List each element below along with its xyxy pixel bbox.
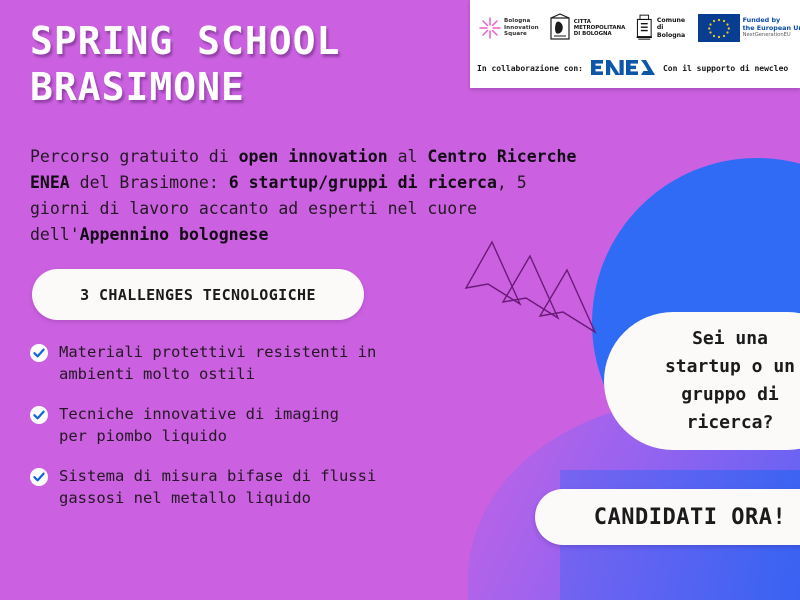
- list-item: Tecniche innovative di imaging per piomb…: [30, 403, 460, 447]
- logo-european-union: Funded by the European Union NextGenerat…: [698, 14, 800, 42]
- callout-line-2: startup o un: [640, 353, 800, 381]
- list-item-line-1: Sistema di misura bifase di flussi: [59, 465, 376, 487]
- lede-seg-1: Percorso gratuito di: [30, 147, 239, 166]
- collaboration-label: In collaborazione con:: [477, 64, 583, 73]
- apply-now-button-label: CANDIDATI ORA!: [594, 505, 786, 530]
- list-item: Materiali protettivi resistenti in ambie…: [30, 341, 460, 385]
- check-circle-icon: [30, 468, 48, 486]
- coat-of-arms-icon: [634, 12, 655, 44]
- logo-comune-wordmark: Comune di Bologna: [657, 17, 689, 39]
- challenges-pill-label: 3 CHALLENGES TECNOLOGICHE: [80, 286, 316, 304]
- lede-seg-2: al: [388, 147, 428, 166]
- check-circle-icon: [30, 344, 48, 362]
- support-label: Con il supporto di newcleo: [663, 64, 788, 73]
- logo-cm-wordmark: CITTA METROPOLITANA DI BOLOGNA: [574, 19, 626, 38]
- callout-line-4: ricerca?: [640, 409, 800, 437]
- page-title: SPRING SCHOOL BRASIMONE: [30, 18, 460, 110]
- title-line-2: BRASIMONE: [30, 64, 460, 110]
- list-item-text: Sistema di misura bifase di flussi gasso…: [59, 465, 376, 509]
- intro-paragraph: Percorso gratuito di open innovation al …: [30, 144, 595, 248]
- title-line-1: SPRING SCHOOL: [30, 18, 460, 64]
- list-item-text: Materiali protettivi resistenti in ambie…: [59, 341, 376, 385]
- callout-line-3: gruppo di: [640, 381, 800, 409]
- eu-wordmark: Funded by the European Union NextGenerat…: [743, 17, 800, 39]
- apply-now-button[interactable]: CANDIDATI ORA!: [535, 489, 800, 545]
- list-item-line-1: Tecniche innovative di imaging: [59, 403, 339, 425]
- starburst-icon: [479, 17, 501, 39]
- partner-logo-panel: Bologna Innovation Square CITTA METROPOL…: [470, 0, 800, 88]
- list-item: Sistema di misura bifase di flussi gasso…: [30, 465, 460, 509]
- list-item-text: Tecniche innovative di imaging per piomb…: [59, 403, 339, 447]
- eu-flag-icon: [698, 14, 740, 42]
- audience-callout: Sei una startup o un gruppo di ricerca?: [604, 312, 800, 450]
- audience-callout-text: Sei una startup o un gruppo di ricerca?: [640, 325, 800, 437]
- chevron-decoration-icon: [462, 238, 602, 353]
- enea-logo-icon: [590, 57, 656, 79]
- logo-comune-di-bologna: Comune di Bologna: [634, 12, 688, 44]
- logo-row-secondary: In collaborazione con: Con il: [470, 54, 800, 82]
- check-circle-icon: [30, 406, 48, 424]
- logo-bologna-innovation-square: Bologna Innovation Square: [479, 17, 539, 39]
- list-item-line-1: Materiali protettivi resistenti in: [59, 341, 376, 363]
- coat-of-arms-icon: [548, 13, 572, 43]
- logo-bis-wordmark: Bologna Innovation Square: [504, 18, 539, 37]
- lede-bold-startup-gruppi: 6 startup/gruppi di ricerca: [229, 173, 497, 192]
- lede-bold-appennino: Appennino bolognese: [80, 225, 269, 244]
- logo-row-primary: Bologna Innovation Square CITTA METROPOL…: [470, 6, 800, 50]
- list-item-line-2: per piombo liquido: [59, 425, 339, 447]
- logo-citta-metropolitana-di-bologna: CITTA METROPOLITANA DI BOLOGNA: [548, 13, 626, 43]
- callout-line-1: Sei una: [640, 325, 800, 353]
- lede-seg-3: del Brasimone:: [70, 173, 229, 192]
- poster-canvas: Bologna Innovation Square CITTA METROPOL…: [0, 0, 800, 600]
- challenges-list: Materiali protettivi resistenti in ambie…: [30, 341, 460, 527]
- challenges-pill: 3 CHALLENGES TECNOLOGICHE: [32, 269, 364, 320]
- list-item-line-2: ambienti molto ostili: [59, 363, 376, 385]
- list-item-line-2: gassosi nel metallo liquido: [59, 487, 376, 509]
- lede-bold-open-innovation: open innovation: [239, 147, 388, 166]
